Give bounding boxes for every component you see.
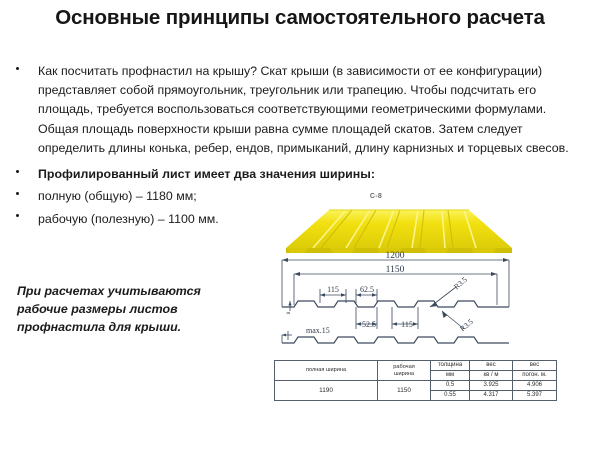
col-header-working-width-line2: ширина	[378, 371, 430, 378]
dim-rib-top-2: 62.5	[360, 285, 374, 294]
specifications-table: полная ширина рабочая ширина толщина вес…	[274, 360, 557, 401]
col-header-weight-sq: вес	[470, 361, 513, 371]
cross-section-svg: 1200 1150 115 62.5 52.5 115 8 R3.5 R3.5 …	[264, 251, 594, 351]
col-header-thickness: толщина	[431, 361, 470, 371]
col-header-working-width: рабочая ширина	[378, 361, 431, 381]
profile-type-label: C-8	[356, 193, 396, 200]
cell-weight-lin-2: 5.397	[513, 391, 557, 401]
bullet-dot-icon	[16, 67, 19, 70]
dim-radius-2: R3.5	[458, 317, 475, 333]
cell-weight-sq-2: 4.317	[470, 391, 513, 401]
corrugated-sheet-svg	[274, 204, 524, 256]
page-title: Основные принципы самостоятельного расче…	[40, 4, 560, 31]
cell-full-width: 1190	[275, 381, 378, 401]
dim-working-width: 1150	[386, 265, 405, 275]
list-item: Как посчитать профнастил на крышу? Скат …	[10, 62, 590, 158]
col-header-full-width: полная ширина	[275, 361, 378, 381]
table-row: 1190 1150 0.5 3.925 4.906	[275, 381, 557, 391]
cell-working-width: 1150	[378, 381, 431, 401]
col-header-weight-lin-unit: погон. м.	[513, 371, 557, 381]
table-body: 1190 1150 0.5 3.925 4.906 0.55 4.317 5.3…	[275, 381, 557, 401]
bullet-dot-icon	[16, 214, 19, 217]
table-header-row: полная ширина рабочая ширина толщина вес…	[275, 361, 557, 371]
dim-max-overlap: max.15	[306, 326, 330, 335]
dim-rib-bottom-1: 52.5	[362, 320, 376, 329]
table-header: полная ширина рабочая ширина толщина вес…	[275, 361, 557, 381]
dim-rib-bottom-2: 115	[401, 320, 413, 329]
calculation-note: При расчетах учитываются рабочие размеры…	[17, 283, 247, 337]
cell-thickness-1: 0.5	[431, 381, 470, 391]
dim-rib-top-1: 115	[327, 285, 339, 294]
cell-weight-sq-1: 3.925	[470, 381, 513, 391]
bullet-dot-icon	[16, 192, 19, 195]
cross-section-drawing: 1200 1150 115 62.5 52.5 115 8 R3.5 R3.5 …	[264, 251, 594, 351]
dim-total-width: 1200	[386, 251, 405, 261]
list-item-label: Профилированный лист имеет два значения …	[38, 165, 590, 184]
dim-radius-1: R3.5	[452, 275, 469, 291]
col-header-working-width-line1: рабочая	[393, 364, 414, 370]
col-header-weight-lin: вес	[513, 361, 557, 371]
list-item-label: Как посчитать профнастил на крышу? Скат …	[38, 62, 590, 158]
list-item: Профилированный лист имеет два значения …	[10, 165, 590, 184]
col-header-thickness-unit: мм	[431, 371, 470, 381]
cell-weight-lin-1: 4.906	[513, 381, 557, 391]
corrugated-sheet-illustration	[274, 204, 524, 256]
bullet-dot-icon	[16, 170, 19, 173]
profiled-sheet-figure: C-8	[264, 193, 594, 418]
dim-height: 8	[286, 311, 292, 314]
cell-thickness-2: 0.55	[431, 391, 470, 401]
col-header-weight-sq-unit: кв / м	[470, 371, 513, 381]
